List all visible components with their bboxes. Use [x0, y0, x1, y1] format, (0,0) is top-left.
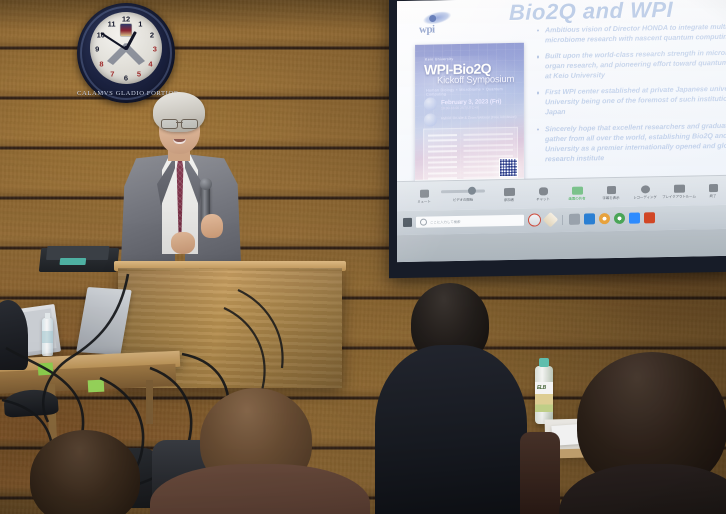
chat-icon	[539, 187, 548, 195]
captions-icon	[607, 186, 616, 194]
microphone-icon	[420, 189, 429, 197]
zoom-end-button[interactable]: 終了	[696, 176, 726, 205]
zoom-breakout-rooms-button[interactable]: ブレイクアウトルーム	[662, 177, 696, 206]
slide-bullet: First WPI center established at private …	[537, 83, 726, 118]
zoom-record-label: レコーディング	[633, 194, 657, 199]
taskbar-search-input[interactable]: ここに入力して検索	[416, 215, 524, 228]
zoom-video-label: ビデオの開始	[453, 196, 473, 201]
powerpoint-icon[interactable]	[644, 213, 655, 224]
zoom-share-label: 画面の共有	[569, 195, 586, 200]
symposium-poster: Keio University WPI-Bio2Q Kickoff Sympos…	[415, 43, 524, 195]
poster-time: 10:00-18:00 JST(UTC+9)	[441, 106, 479, 111]
tea-bottle: ELB	[535, 366, 553, 424]
end-meeting-icon	[709, 184, 718, 192]
zoom-volume-slider[interactable]	[441, 189, 485, 193]
slide-bullet: Sincerely hope that excellent researcher…	[537, 119, 726, 164]
search-placeholder: ここに入力して検索	[430, 219, 460, 225]
clock-num-4: 4	[148, 59, 152, 68]
clock-num-3: 3	[153, 45, 157, 54]
zoom-mute-label: ミュート	[417, 198, 431, 203]
right-hand	[201, 214, 223, 238]
clock-num-1: 1	[138, 19, 142, 28]
clock-num-11: 11	[108, 19, 116, 28]
wpi-logo-text: wpi	[419, 23, 435, 35]
ime-icon[interactable]	[528, 214, 541, 227]
slide-title: Bio2Q and WPI	[509, 0, 673, 26]
zoom-end-label: 終了	[710, 193, 717, 198]
bottle-label-text: ELB	[537, 385, 546, 391]
zoom-participants-button[interactable]: 参加者	[492, 180, 526, 209]
slide-bullet: Ambitious vision of Director HONDA to in…	[537, 21, 726, 46]
registration-qr-code-icon	[499, 158, 518, 177]
wpi-logo: wpi	[413, 8, 459, 41]
slide-bullet: Built upon the world-class research stre…	[537, 47, 726, 82]
clock-num-5: 5	[137, 69, 141, 78]
zoom-record-button[interactable]: レコーディング	[628, 177, 662, 206]
audience-member-front-left	[0, 430, 190, 514]
zoom-mute-button[interactable]: ミュート	[407, 182, 441, 211]
audience-member-center	[383, 283, 517, 514]
zoom-participants-label: 参加者	[504, 197, 514, 202]
participants-icon	[504, 188, 515, 196]
bottle-label: ELB	[535, 382, 553, 412]
zoom-breakout-label: ブレイクアウトルーム	[662, 193, 696, 199]
shoulders	[559, 464, 726, 514]
record-icon	[641, 185, 650, 193]
bottle-cap	[539, 358, 549, 367]
chair-right	[520, 432, 560, 514]
projection-screen-frame: wpi Bio2Q and WPI Keio University WPI-Bi…	[389, 0, 726, 278]
windows-start-icon[interactable]	[403, 218, 412, 227]
search-icon	[420, 219, 427, 226]
chrome-icon[interactable]	[599, 213, 610, 224]
clock-num-12: 12	[122, 15, 130, 24]
crossed-pens-emblem	[105, 39, 147, 65]
head-back	[30, 430, 140, 514]
zoom-start-video-button[interactable]: ビデオの開始	[441, 181, 485, 211]
zoom-share-screen-button[interactable]: 画面の共有	[560, 179, 594, 208]
taskbar-separator	[562, 215, 563, 225]
zoom-captions-button[interactable]: 字幕を表示	[594, 178, 628, 207]
clock-num-7: 7	[110, 69, 114, 78]
breakout-rooms-icon	[674, 184, 685, 192]
task-view-icon[interactable]	[569, 214, 580, 225]
chrome-alt-icon[interactable]	[614, 213, 625, 224]
clock-face: 12 1 2 3 4 5 6 7 8 9 10 11	[90, 12, 162, 84]
projection-screen: wpi Bio2Q and WPI Keio University WPI-Bi…	[397, 0, 726, 262]
cortana-icon[interactable]	[543, 212, 559, 228]
slide-bullet-list: Ambitious vision of Director HONDA to in…	[537, 21, 726, 170]
symposium-photo: 12 1 2 3 4 5 6 7 8 9 10 11	[0, 0, 726, 514]
shoulders	[375, 345, 527, 514]
mail-icon[interactable]	[584, 214, 595, 225]
clock-num-6: 6	[124, 73, 128, 82]
clock-num-8: 8	[99, 59, 103, 68]
audience-member-right	[565, 352, 726, 514]
share-screen-icon	[572, 186, 583, 194]
keio-wall-clock: 12 1 2 3 4 5 6 7 8 9 10 11	[77, 3, 175, 103]
screen-lower-band	[397, 228, 726, 262]
clock-num-2: 2	[150, 31, 154, 40]
zoom-icon[interactable]	[629, 213, 640, 224]
zoom-captions-label: 字幕を表示	[603, 195, 620, 200]
clock-num-9: 9	[95, 45, 99, 54]
zoom-chat-label: チャット	[536, 196, 550, 201]
eyeglasses-icon	[161, 119, 198, 127]
clock-center-cap	[124, 46, 128, 50]
zoom-chat-button[interactable]: チャット	[526, 179, 560, 208]
poster-subtitle: Kickoff Symposium	[437, 74, 514, 86]
